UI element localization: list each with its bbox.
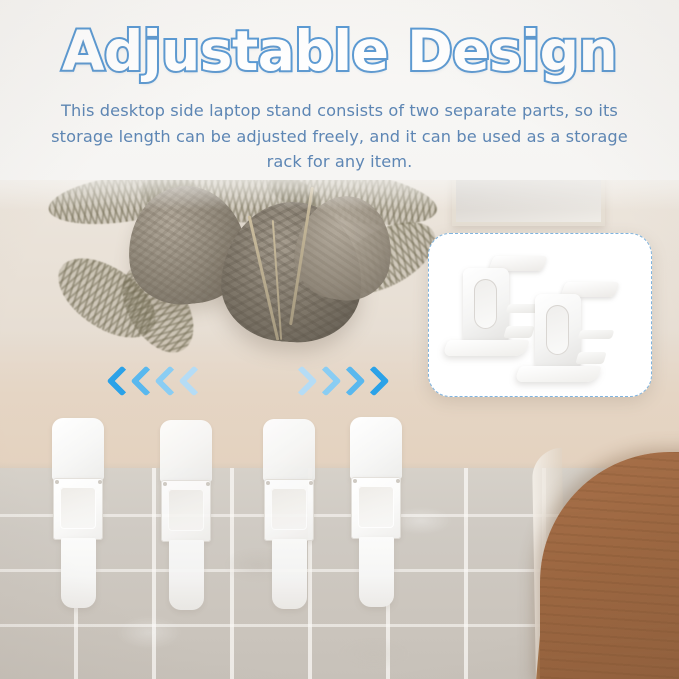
bracket-screw (163, 482, 167, 486)
bracket-screw (55, 480, 59, 484)
stand-upright (463, 268, 509, 344)
product-closeup-card (428, 233, 652, 397)
right-chevrons (290, 370, 386, 392)
chevron-right-icon (358, 365, 389, 396)
bracket-screw (266, 481, 270, 485)
bracket-leg (359, 537, 394, 607)
bracket-frame (264, 479, 314, 541)
bracket-top-plate (52, 418, 104, 480)
bracket-top-plate (350, 417, 402, 479)
bracket-frame (53, 478, 103, 540)
bracket-frame (161, 480, 211, 542)
chevron-left-icon (178, 365, 209, 396)
bracket-leg (272, 539, 307, 609)
stand-mid-arm (578, 330, 615, 339)
bracket-screw (309, 481, 313, 485)
bracket-top-plate (160, 420, 212, 482)
page-subtitle: This desktop side laptop stand consists … (44, 98, 635, 175)
stand-base (442, 340, 530, 356)
stand-base (514, 366, 602, 382)
bracket-leg (61, 538, 96, 608)
bracket-frame (351, 477, 401, 539)
bracket-screw (206, 482, 210, 486)
stand-clamp (503, 326, 534, 338)
bracket-screw (396, 479, 400, 483)
bracket-screw (353, 479, 357, 483)
stand-upright (535, 294, 581, 370)
bracket-leg (169, 540, 204, 610)
product-feature-image: Adjustable Design This desktop side lapt… (0, 0, 679, 679)
page-title: Adjustable Design (0, 22, 679, 81)
bracket-top-plate (263, 419, 315, 481)
bracket-screw (98, 480, 102, 484)
stand-clamp (575, 352, 606, 364)
header-band: Adjustable Design This desktop side lapt… (0, 0, 679, 180)
left-chevrons (110, 370, 206, 392)
wall-mirror (452, 172, 605, 226)
